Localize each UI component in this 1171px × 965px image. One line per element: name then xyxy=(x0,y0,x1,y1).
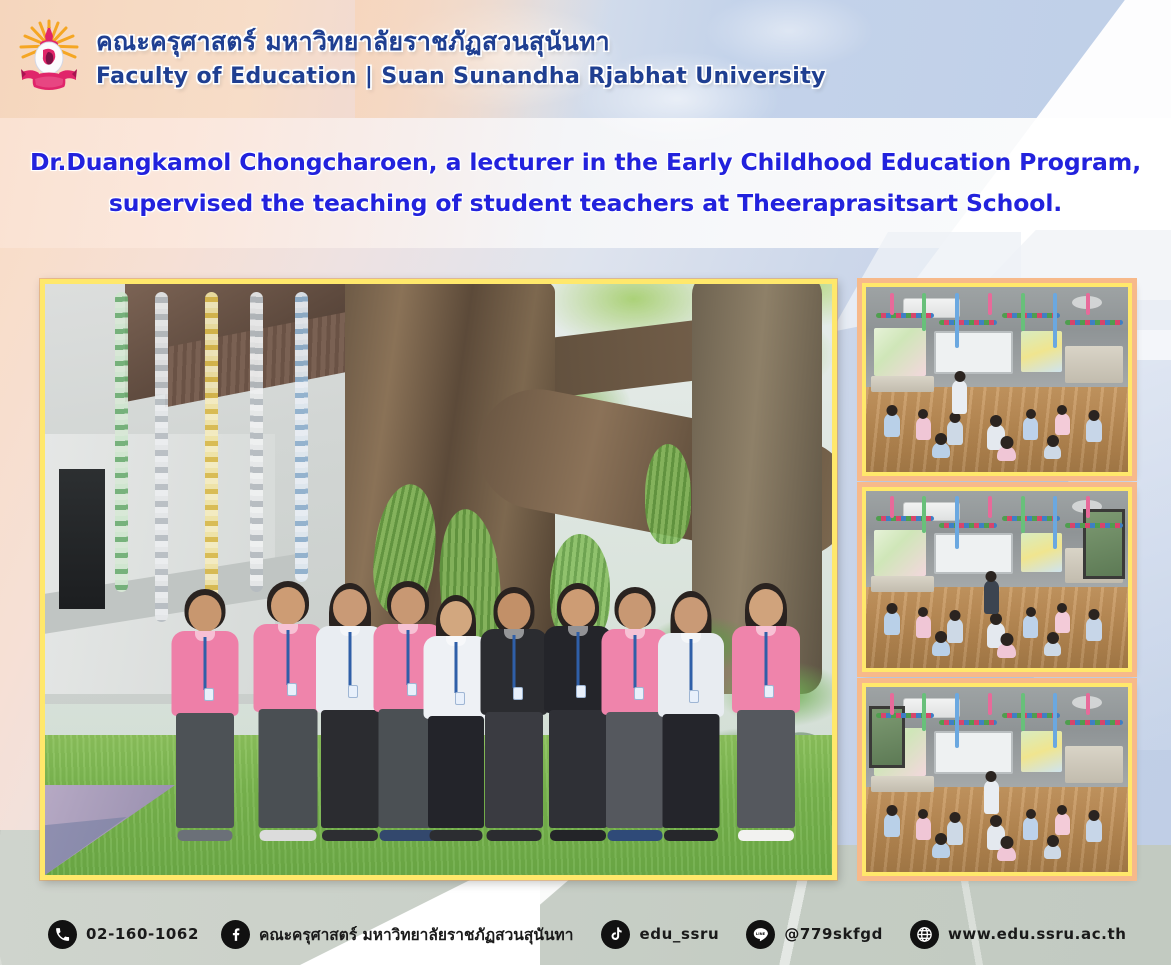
headline-block: Dr.Duangkamol Chongcharoen, a lecturer i… xyxy=(0,142,1171,224)
photo-person-head xyxy=(619,593,652,630)
photo-person-shoes xyxy=(664,830,718,841)
classroom-teacher xyxy=(984,580,999,614)
photo-person-lanyard xyxy=(513,635,516,688)
photo-person-lower-wear xyxy=(737,710,795,828)
contact-facebook[interactable]: คณะครุศาสตร์ มหาวิทยาลัยราชภัฏสวนสุนันทา xyxy=(221,920,574,949)
classroom-child xyxy=(947,820,963,845)
contact-footer: 02-160-1062 คณะครุศาสตร์ มหาวิทยาลัยราชภ… xyxy=(0,903,1171,965)
classroom-garland xyxy=(1065,320,1123,325)
classroom-garland xyxy=(939,320,997,325)
classroom-child xyxy=(884,813,900,837)
classroom-child-head xyxy=(1000,836,1013,849)
classroom-children-group-presentation xyxy=(862,683,1132,876)
photo-person-lanyard xyxy=(348,632,351,686)
classroom-shelf xyxy=(1065,746,1123,783)
photo-person-id-badge xyxy=(455,692,465,705)
photo-person-id-badge xyxy=(287,683,297,696)
classroom-child-head xyxy=(1047,435,1059,447)
classroom-child xyxy=(1044,444,1061,459)
classroom-child xyxy=(1086,418,1102,442)
classroom-child xyxy=(1055,611,1070,633)
classroom-child-head xyxy=(1057,805,1067,815)
classroom-child-head xyxy=(935,433,947,445)
photo-person-id-badge xyxy=(513,687,523,700)
photo-person-head xyxy=(440,601,472,637)
photo-person xyxy=(545,585,610,841)
classroom-child-head xyxy=(887,603,898,614)
classroom-bulletin-board xyxy=(874,328,926,376)
photo-person-id-badge xyxy=(576,685,586,698)
photo-person-lanyard xyxy=(455,642,458,693)
classroom-child xyxy=(1044,844,1061,859)
classroom-garland xyxy=(1002,516,1060,521)
photo-person-shoes xyxy=(430,830,483,841)
photo-person-shoes xyxy=(178,830,233,841)
photo-person-lower-wear xyxy=(259,709,318,828)
classroom-child-head xyxy=(1026,607,1036,617)
classroom-child xyxy=(932,640,950,656)
photo-person-shoes xyxy=(260,830,317,841)
classroom-shelf xyxy=(1065,346,1123,383)
photo-person-id-badge xyxy=(204,688,214,701)
classroom-hanging-decoration xyxy=(1086,496,1090,517)
classroom-child-head xyxy=(887,405,898,416)
classroom-hanging-decoration xyxy=(1053,693,1057,749)
photo-people-row xyxy=(45,511,832,841)
photo-person-id-badge xyxy=(689,690,699,703)
classroom-child-head xyxy=(935,631,947,643)
classroom-hanging-decoration xyxy=(1021,693,1025,732)
classroom-hanging-decoration xyxy=(1021,293,1025,332)
classroom-child-head xyxy=(1089,410,1100,421)
photo-person-lower-wear xyxy=(606,712,664,828)
contact-line[interactable]: LINE @779skfgd xyxy=(746,920,883,949)
classroom-garland xyxy=(1002,313,1060,318)
classroom-child xyxy=(1044,641,1061,656)
photo-person-id-badge xyxy=(634,687,644,700)
classroom-child-head xyxy=(887,805,898,816)
classroom-child xyxy=(1086,818,1102,842)
classroom-child-head xyxy=(1057,603,1067,613)
classroom-child xyxy=(1086,617,1102,641)
classroom-garland xyxy=(1002,713,1060,718)
facebook-icon xyxy=(221,920,250,949)
classroom-child-head xyxy=(990,815,1002,827)
contact-phone[interactable]: 02-160-1062 xyxy=(48,920,199,949)
classroom-child xyxy=(932,842,950,858)
headline-line-2: supervised the teaching of student teach… xyxy=(30,183,1141,224)
classroom-hanging-decoration xyxy=(955,496,959,549)
contact-tiktok-value: edu_ssru xyxy=(639,925,719,943)
svg-text:LINE: LINE xyxy=(756,931,766,935)
classroom-teacher-head xyxy=(954,371,965,382)
classroom-child xyxy=(916,615,931,638)
header-titles: คณะครุศาสตร์ มหาวิทยาลัยราชภัฏสวนสุนันทา… xyxy=(96,22,826,89)
photo-person xyxy=(733,585,798,841)
classroom-hanging-decoration xyxy=(890,693,894,715)
classroom-low-shelf xyxy=(871,576,934,592)
classroom-hanging-decoration xyxy=(988,693,992,715)
classroom-child-head xyxy=(1000,436,1013,449)
tiktok-icon xyxy=(601,920,630,949)
phone-icon xyxy=(48,920,77,949)
photo-person xyxy=(173,591,237,841)
classroom-child xyxy=(997,643,1016,658)
photo-person-lower-wear xyxy=(321,710,379,828)
classroom-child-head xyxy=(918,809,928,819)
classroom-child-head xyxy=(1089,609,1100,620)
classroom-teacher-head xyxy=(986,571,997,582)
header-title-thai: คณะครุศาสตร์ มหาวิทยาลัยราชภัฏสวนสุนันทา xyxy=(96,22,826,62)
photo-person-head xyxy=(391,587,425,625)
photo-person xyxy=(659,593,722,841)
classroom-child-head xyxy=(1000,633,1013,646)
photo-person-lower-wear xyxy=(549,710,607,828)
classroom-whiteboard xyxy=(934,331,1013,374)
classroom-child-head xyxy=(1026,409,1036,419)
classroom-child xyxy=(947,420,963,445)
photo-person-id-badge xyxy=(764,685,774,698)
classroom-child xyxy=(932,442,950,458)
classroom-hanging-decoration xyxy=(1053,496,1057,549)
classroom-garland xyxy=(1065,523,1123,528)
classroom-hanging-decoration xyxy=(922,293,926,332)
photo-person-shoes xyxy=(550,830,606,841)
classroom-hanging-decoration xyxy=(1086,693,1090,715)
photo-person-head xyxy=(498,593,531,630)
photo-person-lower-wear xyxy=(176,713,234,828)
photo-person-lanyard xyxy=(689,639,692,691)
classroom-hanging-decoration xyxy=(890,293,894,315)
classroom-garland xyxy=(1065,720,1123,725)
photo-person xyxy=(425,597,487,841)
contact-phone-value: 02-160-1062 xyxy=(86,925,199,943)
classroom-child xyxy=(1023,817,1038,840)
classroom-hanging-decoration xyxy=(988,496,992,517)
photo-person-lower-wear xyxy=(428,716,484,828)
classroom-student-teacher-presenting xyxy=(862,283,1132,476)
photo-person-shoes xyxy=(738,830,794,841)
classroom-teacher-head xyxy=(986,771,997,782)
classroom-hanging-decoration xyxy=(922,496,926,533)
photo-person-shoes xyxy=(322,830,378,841)
photo-person-id-badge xyxy=(407,683,417,696)
classroom-hanging-decoration xyxy=(922,693,926,732)
photo-person-head xyxy=(674,597,707,634)
contact-website-value: www.edu.ssru.ac.th xyxy=(948,925,1127,943)
photo-person xyxy=(317,585,382,841)
classroom-child xyxy=(997,846,1016,861)
classroom-teacher xyxy=(984,780,999,814)
classroom-child-head xyxy=(1047,835,1059,847)
classroom-child-head xyxy=(1089,810,1100,821)
classroom-window xyxy=(1083,509,1125,580)
contact-website[interactable]: www.edu.ssru.ac.th xyxy=(910,920,1127,949)
line-icon: LINE xyxy=(746,920,775,949)
photo-person xyxy=(603,589,667,841)
classroom-child-head xyxy=(950,412,961,423)
classroom-hanging-decoration xyxy=(1021,496,1025,533)
photo-person-shoes xyxy=(487,830,542,841)
classroom-child xyxy=(947,618,963,643)
classroom-child xyxy=(884,611,900,635)
classroom-child xyxy=(916,817,931,840)
classroom-garland xyxy=(939,523,997,528)
classroom-child xyxy=(884,413,900,437)
headline-line-1: Dr.Duangkamol Chongcharoen, a lecturer i… xyxy=(30,142,1141,183)
classroom-child-head xyxy=(918,607,928,617)
photo-person-id-badge xyxy=(348,685,358,698)
photo-person-head xyxy=(189,595,222,632)
classroom-low-shelf xyxy=(871,776,934,793)
photo-person-lanyard xyxy=(634,635,637,688)
photo-person-lanyard xyxy=(576,632,579,686)
photo-person-head xyxy=(333,589,367,627)
classroom-child xyxy=(1055,413,1070,435)
classroom-hanging-decoration xyxy=(955,693,959,749)
classroom-child xyxy=(1023,615,1038,638)
classroom-bulletin-board xyxy=(874,530,926,576)
classroom-child xyxy=(1055,813,1070,835)
classroom-teacher xyxy=(952,380,967,414)
classroom-child-head xyxy=(950,610,961,621)
photo-person-head xyxy=(749,589,783,627)
classroom-child-head xyxy=(935,833,947,845)
photo-person xyxy=(482,589,546,841)
classroom-child-head xyxy=(950,812,961,823)
poster-canvas: คณะครุศาสตร์ มหาวิทยาลัยราชภัฏสวนสุนันทา… xyxy=(0,0,1171,965)
header-title-english: Faculty of Education | Suan Sunandha Rja… xyxy=(96,64,826,89)
classroom-child-head xyxy=(990,415,1002,427)
classroom-child xyxy=(1023,417,1038,440)
globe-icon xyxy=(910,920,939,949)
ssru-university-crest-icon xyxy=(16,16,82,94)
photo-person-lanyard xyxy=(287,630,290,685)
classroom-child-head xyxy=(918,409,928,419)
classroom-hanging-decoration xyxy=(1086,293,1090,315)
classroom-low-shelf xyxy=(871,376,934,393)
photo-person-lower-wear xyxy=(662,714,719,828)
classroom-child xyxy=(997,446,1016,461)
contact-line-value: @779skfgd xyxy=(784,925,883,943)
contact-facebook-value: คณะครุศาสตร์ มหาวิทยาลัยราชภัฏสวนสุนันทา xyxy=(259,922,574,947)
classroom-child-head xyxy=(990,613,1002,625)
classroom-hanging-decoration xyxy=(1053,293,1057,349)
photo-person-head xyxy=(271,587,305,625)
classroom-child-head xyxy=(1047,632,1059,644)
classroom-hanging-decoration xyxy=(955,293,959,349)
classroom-whiteboard xyxy=(934,731,1013,774)
classroom-child xyxy=(916,417,931,440)
photo-person-lanyard xyxy=(764,632,767,686)
photo-person xyxy=(255,583,321,841)
classroom-garland xyxy=(939,720,997,725)
photo-person-lower-wear xyxy=(485,712,543,828)
classroom-whiteboard xyxy=(934,533,1013,574)
classroom-hanging-decoration xyxy=(890,496,894,517)
contact-tiktok[interactable]: edu_ssru xyxy=(601,920,719,949)
group-photo-teachers-and-student-teachers xyxy=(40,279,837,880)
photo-person-lanyard xyxy=(407,630,410,685)
classroom-child-head xyxy=(1057,405,1067,415)
page-header: คณะครุศาสตร์ มหาวิทยาลัยราชภัฏสวนสุนันทา… xyxy=(0,0,1171,110)
photo-person-shoes xyxy=(608,830,663,841)
photo-person-lanyard xyxy=(204,637,207,690)
classroom-child-head xyxy=(1026,809,1036,819)
classroom-hanging-decoration xyxy=(988,293,992,315)
photo-person-head xyxy=(561,589,595,627)
classroom-storytelling-circle xyxy=(862,487,1132,672)
